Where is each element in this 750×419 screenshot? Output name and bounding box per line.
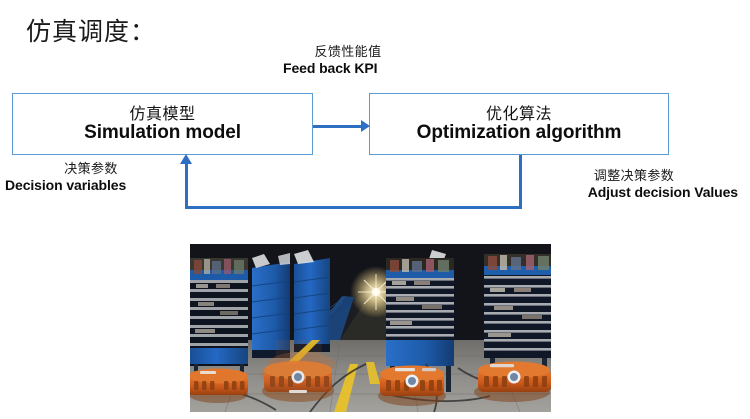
node-optimization-algorithm[interactable]: 优化算法 Optimization algorithm — [369, 93, 669, 155]
edge-label-adjust-decision-values: 调整决策参数 Adjust decision Values — [530, 170, 738, 201]
node-simulation-model[interactable]: 仿真模型 Simulation model — [12, 93, 313, 155]
edge-feedback-vertical-left — [185, 163, 188, 209]
edge-feed-back-kpi-line — [313, 125, 363, 128]
arrow-right-icon — [361, 120, 370, 132]
node-optimization-algorithm-label-cn: 优化算法 — [486, 105, 552, 122]
edge-label-adjust-decision-values-en: Adjust decision Values — [530, 185, 738, 200]
node-optimization-algorithm-label-en: Optimization algorithm — [417, 123, 622, 144]
edge-label-decision-variables-en: Decision variables — [5, 178, 177, 193]
edge-label-decision-variables-cn: 决策参数 — [5, 163, 177, 177]
edge-feedback-horizontal — [185, 206, 522, 209]
warehouse-agv-photo — [190, 244, 551, 412]
edge-feedback-vertical-right — [519, 155, 522, 209]
edge-label-feed-back-kpi: 反馈性能值 Feed back KPI — [283, 46, 413, 77]
arrow-up-icon — [180, 154, 192, 164]
warehouse-agv-photo-graphic — [190, 244, 551, 412]
edge-label-adjust-decision-values-cn: 调整决策参数 — [530, 170, 738, 184]
page-title: 仿真调度： — [26, 17, 156, 47]
edge-label-feed-back-kpi-cn: 反馈性能值 — [283, 46, 413, 60]
slide-canvas: 仿真调度： 仿真模型 Simulation model 优化算法 Optimiz… — [0, 0, 750, 419]
edge-label-feed-back-kpi-en: Feed back KPI — [283, 61, 413, 76]
node-simulation-model-label-cn: 仿真模型 — [129, 105, 195, 122]
edge-label-decision-variables: 决策参数 Decision variables — [5, 163, 177, 194]
node-simulation-model-label-en: Simulation model — [84, 123, 241, 144]
